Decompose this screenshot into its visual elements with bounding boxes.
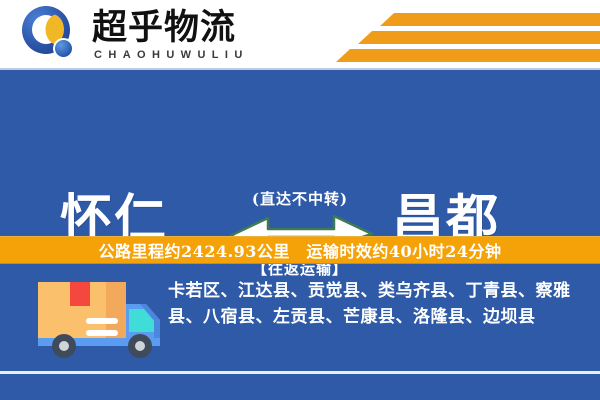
route-section: 怀仁 (直达不中转) 【往返运输】 昌都 [0,70,600,236]
covered-districts-text: 卡若区、江达县、贡觉县、类乌齐县、丁青县、察雅县、八宿县、左贡县、芒康县、洛隆县… [168,278,586,330]
route-info-bar: 公路里程约2424.93公里 运输时效约40小时24分钟 [0,236,600,264]
brand-name-block: 超乎物流 CHAOHUWULIU [92,9,249,62]
brand-name-cn: 超乎物流 [92,9,249,47]
delivery-truck-icon [28,276,168,362]
coverage-section: 卡若区、江达县、贡觉县、类乌齐县、丁青县、察雅县、八宿县、左贡县、芒康县、洛隆县… [0,264,600,372]
header-stripe-1 [380,13,600,26]
header-stripe-2 [358,31,600,44]
banner-header: 超乎物流 CHAOHUWULIU [0,0,600,70]
logo-q-crescent-icon [22,6,82,64]
brand-name-en: CHAOHUWULIU [94,48,249,62]
logo-dot-shape [53,38,74,59]
brand-logo: 超乎物流 CHAOHUWULIU [22,6,249,64]
logistics-route-banner: 超乎物流 CHAOHUWULIU 怀仁 (直达不中转) 【往返运输】 昌都 公路… [0,0,600,400]
distance-and-duration-text: 公路里程约2424.93公里 运输时效约40小时24分钟 [99,238,502,262]
footer-band [0,374,600,400]
route-note-direct: (直达不中转) [0,188,600,209]
header-stripe-3 [336,49,600,62]
